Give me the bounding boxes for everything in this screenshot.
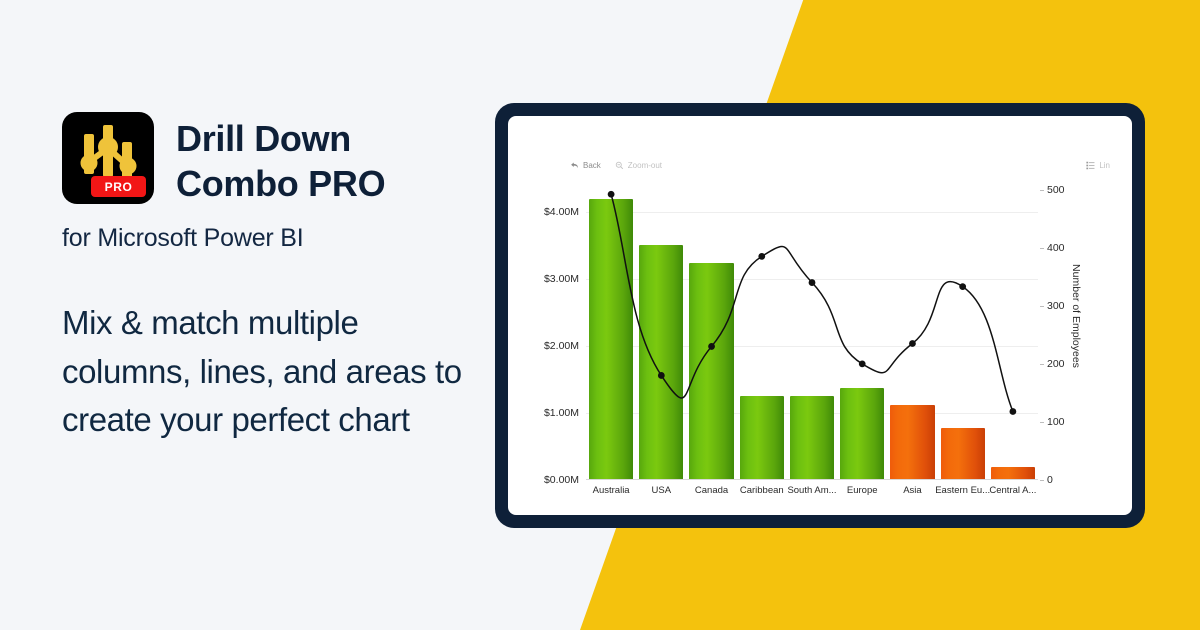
x-axis-category-label[interactable]: Asia xyxy=(903,485,921,496)
y-axis-right-tick xyxy=(1040,306,1044,307)
line-data-point[interactable] xyxy=(959,283,966,290)
bar[interactable] xyxy=(991,467,1035,480)
y-axis-left-tick-label: $0.00M xyxy=(544,474,579,486)
y-axis-right-tick-label: 200 xyxy=(1047,358,1065,370)
x-axis-category-label[interactable]: USA xyxy=(652,485,672,496)
x-axis-category-label[interactable]: South Am... xyxy=(787,485,836,496)
magnifier-minus-icon xyxy=(615,161,624,170)
y-axis-right-tick xyxy=(1040,422,1044,423)
y-axis-left-tick-label: $1.00M xyxy=(544,407,579,419)
combo-chart-logo-icon: PRO xyxy=(62,112,154,204)
y-axis-right-tick xyxy=(1040,190,1044,191)
brand-row: PRO Drill Down Combo PRO xyxy=(62,112,500,206)
x-axis-category-label[interactable]: Australia xyxy=(593,485,630,496)
bar[interactable] xyxy=(689,263,733,480)
chart-device-frame: Back Zoom-out xyxy=(495,103,1145,528)
line-data-point[interactable] xyxy=(859,360,866,367)
pro-badge: PRO xyxy=(91,176,146,197)
chart-toolbar: Back Zoom-out xyxy=(508,156,1132,174)
line-data-point[interactable] xyxy=(809,279,816,286)
bar[interactable] xyxy=(639,245,683,480)
bar[interactable] xyxy=(941,428,985,480)
x-axis-category-label[interactable]: Europe xyxy=(847,485,878,496)
y-axis-right-tick-label: 100 xyxy=(1047,416,1065,428)
y-axis-left-tick-label: $2.00M xyxy=(544,340,579,352)
line-data-point[interactable] xyxy=(608,191,615,198)
gridline xyxy=(586,212,1038,213)
y-axis-right-tick-label: 300 xyxy=(1047,300,1065,312)
legend-list-icon xyxy=(1086,161,1095,170)
promo-tagline: Mix & match multiple columns, lines, and… xyxy=(62,299,462,445)
y-axis-left-tick-label: $3.00M xyxy=(544,273,579,285)
bar[interactable] xyxy=(790,396,834,480)
y-axis-right-tick-label: 500 xyxy=(1047,184,1065,196)
plot-area: $4.00M$3.00M$2.00M$1.00M$0.00M 500400300… xyxy=(586,178,1038,480)
toolbar-left-group: Back Zoom-out xyxy=(570,161,662,170)
y-axis-right-title: Number of Employees xyxy=(1070,264,1082,368)
x-axis-category-label[interactable]: Central A... xyxy=(989,485,1036,496)
y-axis-right-tick xyxy=(1040,248,1044,249)
x-axis-category-label[interactable]: Canada xyxy=(695,485,728,496)
zoom-out-button[interactable]: Zoom-out xyxy=(615,161,662,170)
axis-baseline xyxy=(586,479,1038,480)
bar[interactable] xyxy=(890,405,934,480)
product-subtitle: for Microsoft Power BI xyxy=(62,224,500,253)
bar[interactable] xyxy=(589,199,633,480)
line-data-point[interactable] xyxy=(758,253,765,260)
back-button[interactable]: Back xyxy=(570,161,601,170)
y-axis-right-tick-label: 400 xyxy=(1047,242,1065,254)
title-block: Drill Down Combo PRO xyxy=(176,112,385,206)
y-axis-right-tick-label: 0 xyxy=(1047,474,1053,486)
bar[interactable] xyxy=(840,388,884,480)
x-axis-category-label[interactable]: Eastern Eu... xyxy=(935,485,990,496)
bar[interactable] xyxy=(740,396,784,480)
legend-button[interactable]: Lin xyxy=(1086,161,1110,170)
toolbar-right-group: Lin xyxy=(1086,161,1110,170)
y-axis-right-tick xyxy=(1040,364,1044,365)
legend-label: Lin xyxy=(1099,161,1110,170)
x-axis-category-label[interactable]: Caribbean xyxy=(740,485,784,496)
chart-screen: Back Zoom-out xyxy=(508,116,1132,515)
back-label: Back xyxy=(583,161,601,170)
promo-left-panel: PRO Drill Down Combo PRO for Microsoft P… xyxy=(0,0,500,630)
zoom-out-label: Zoom-out xyxy=(628,161,662,170)
app-title: Drill Down Combo PRO xyxy=(176,116,385,206)
y-axis-left-tick-label: $4.00M xyxy=(544,206,579,218)
back-arrow-icon xyxy=(570,161,579,170)
y-axis-right-tick xyxy=(1040,480,1044,481)
